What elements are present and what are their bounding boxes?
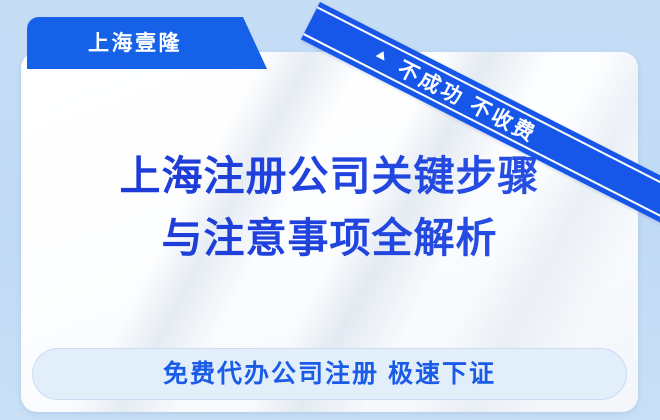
headline-line-1: 上海注册公司关键步骤 xyxy=(21,145,638,207)
cta-pill-label: 免费代办公司注册 极速下证 xyxy=(163,362,496,387)
brand-tab-label: 上海壹隆 xyxy=(88,33,182,54)
headline-line-2: 与注意事项全解析 xyxy=(21,207,638,269)
promo-banner: 上海壹隆 不成功 不收费 上海注册公司关键步骤 与注意事项全解析 免费代办公司注… xyxy=(0,0,660,420)
headline-block: 上海注册公司关键步骤 与注意事项全解析 xyxy=(21,145,638,269)
cta-pill[interactable]: 免费代办公司注册 极速下证 xyxy=(32,348,627,400)
brand-tab-content: 上海壹隆 xyxy=(27,17,243,69)
